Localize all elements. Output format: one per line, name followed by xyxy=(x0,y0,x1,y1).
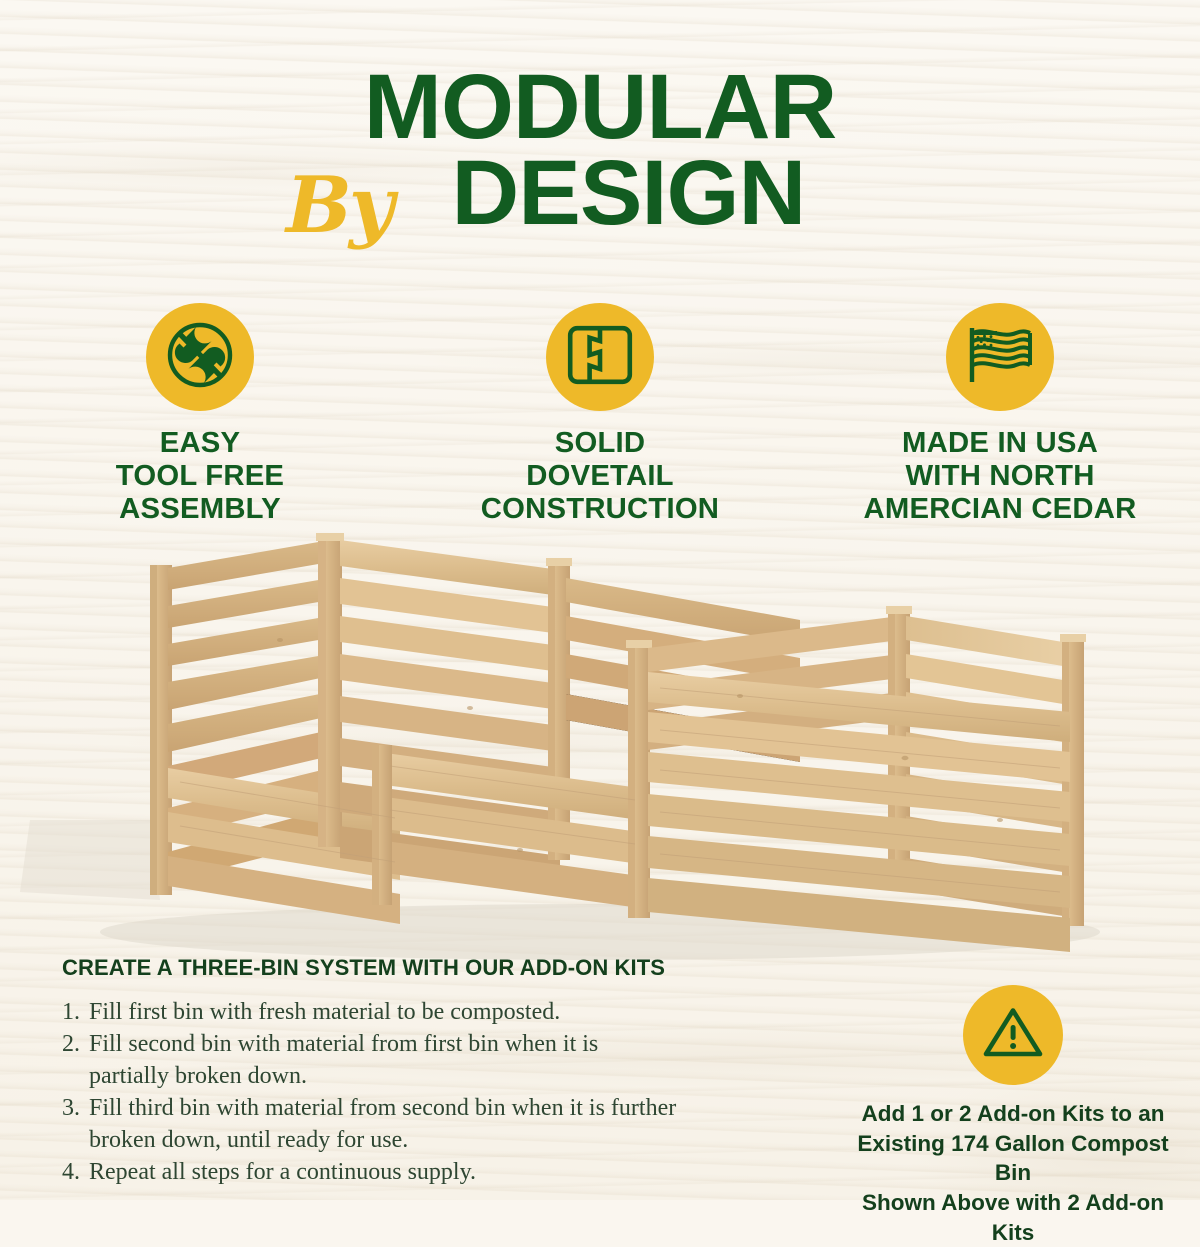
list-item-number: 4. xyxy=(62,1157,89,1188)
feature-badge-circle xyxy=(946,303,1054,411)
page-title-line-2: By DESIGN xyxy=(0,154,1200,254)
list-item: 2. Fill second bin with material from fi… xyxy=(62,1029,682,1092)
page-title-design-word: DESIGN xyxy=(452,150,806,236)
feature-label: MADE IN USA WITH NORTH AMERCIAN CEDAR xyxy=(833,427,1166,525)
note-text: Add 1 or 2 Add-on Kits to an Existing 17… xyxy=(848,1099,1178,1247)
list-item-number: 3. xyxy=(62,1093,89,1156)
list-item: 3. Fill third bin with material from sec… xyxy=(62,1093,682,1156)
list-item-number: 2. xyxy=(62,1029,89,1092)
feature-solid-dovetail-construction: SOLID DOVETAIL CONSTRUCTION xyxy=(435,303,765,525)
page-title: MODULAR By DESIGN xyxy=(0,64,1200,254)
feature-label: EASY TOOL FREE ASSEMBLY xyxy=(33,427,366,525)
addon-kit-note: Add 1 or 2 Add-on Kits to an Existing 17… xyxy=(848,985,1178,1247)
note-badge-circle xyxy=(963,985,1063,1085)
list-item-text: Fill second bin with material from first… xyxy=(89,1029,682,1092)
compost-bin-illustration xyxy=(0,520,1200,970)
list-item-text: Fill first bin with fresh material to be… xyxy=(89,997,682,1028)
page-title-line-1: MODULAR xyxy=(0,64,1200,150)
feature-easy-tool-free-assembly: EASY TOOL FREE ASSEMBLY xyxy=(35,303,365,525)
warning-triangle-icon xyxy=(981,1004,1045,1067)
list-item: 4. Repeat all steps for a continuous sup… xyxy=(62,1157,682,1188)
list-item-text: Fill third bin with material from second… xyxy=(89,1093,682,1156)
feature-badge-circle xyxy=(546,303,654,411)
list-item: 1. Fill first bin with fresh material to… xyxy=(62,997,682,1028)
feature-label: SOLID DOVETAIL CONSTRUCTION xyxy=(433,427,766,525)
infographic-stage: MODULAR By DESIGN xyxy=(0,0,1200,1200)
page-title-script-word: By xyxy=(286,160,391,251)
steps-heading: CREATE A THREE-BIN SYSTEM WITH OUR ADD-O… xyxy=(62,955,682,981)
feature-made-in-usa: MADE IN USA WITH NORTH AMERCIAN CEDAR xyxy=(835,303,1165,525)
no-tools-wrench-icon xyxy=(163,318,237,397)
feature-badge-row: EASY TOOL FREE ASSEMBLY SOLID DOVETAIL C… xyxy=(0,303,1200,525)
steps-section: CREATE A THREE-BIN SYSTEM WITH OUR ADD-O… xyxy=(62,955,682,1190)
usa-flag-icon xyxy=(964,322,1036,393)
compost-bin-svg xyxy=(0,520,1200,970)
dovetail-joint-icon xyxy=(567,325,633,390)
feature-badge-circle xyxy=(146,303,254,411)
list-item-text: Repeat all steps for a continuous supply… xyxy=(89,1157,682,1188)
list-item-number: 1. xyxy=(62,997,89,1028)
